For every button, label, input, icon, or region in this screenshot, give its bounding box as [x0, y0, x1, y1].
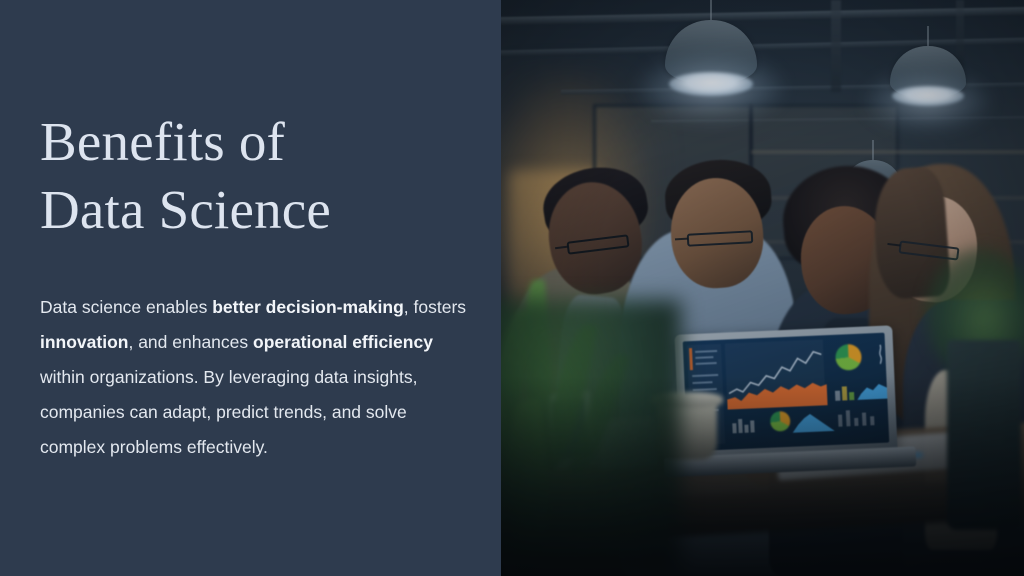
- page-title: Benefits of Data Science: [40, 108, 470, 243]
- dashboard-bar: [862, 413, 867, 426]
- dashboard-bar: [838, 415, 843, 427]
- lamp-cord: [927, 26, 929, 48]
- body-emphasis-decision-making: better decision-making: [212, 297, 404, 317]
- pendant-lamp: [651, 0, 771, 130]
- dashboard-bar: [744, 425, 748, 433]
- body-segment-2: , fosters: [404, 297, 466, 317]
- lamp-cord: [710, 0, 712, 22]
- photo-scene: [501, 0, 1024, 576]
- slide-root: Benefits of Data Science Data science en…: [0, 0, 1024, 576]
- body-segment-3: , and enhances: [128, 332, 253, 352]
- dashboard-bar: [849, 392, 854, 400]
- pendant-lamp: [873, 26, 983, 146]
- body-segment-1: Data science enables: [40, 297, 212, 317]
- dashboard-pie-chart: [835, 344, 862, 371]
- body-emphasis-operational-efficiency: operational efficiency: [253, 332, 433, 352]
- body-paragraph: Data science enables better decision-mak…: [40, 290, 472, 465]
- blue-area-chart-right: [857, 381, 888, 400]
- office-photograph: [501, 0, 1024, 576]
- foreground-plant-mass: [501, 300, 681, 576]
- dashboard-bar: [835, 391, 840, 401]
- dashboard-bar: [842, 386, 848, 400]
- dashboard-bar: [870, 416, 874, 425]
- dashboard-pie-chart: [770, 411, 791, 432]
- lamp-cord: [872, 140, 874, 162]
- body-emphasis-innovation: innovation: [40, 332, 128, 352]
- lamp-bulb: [892, 86, 964, 106]
- lamp-bulb: [669, 72, 753, 96]
- dashboard-bar: [732, 423, 736, 433]
- blue-area-chart-lower: [792, 409, 835, 433]
- dashboard-bar: [846, 410, 851, 426]
- body-segment-4: within organizations. By leveraging data…: [40, 367, 417, 457]
- text-panel: Benefits of Data Science Data science en…: [0, 0, 501, 576]
- dashboard-bar: [750, 420, 755, 432]
- orange-area-chart: [727, 379, 828, 409]
- ceiling-beam: [831, 0, 841, 92]
- sparkline-icon: [873, 343, 888, 366]
- dashboard-bar: [854, 418, 858, 426]
- dashboard-bar: [738, 419, 743, 433]
- planter-pot: [947, 340, 1021, 530]
